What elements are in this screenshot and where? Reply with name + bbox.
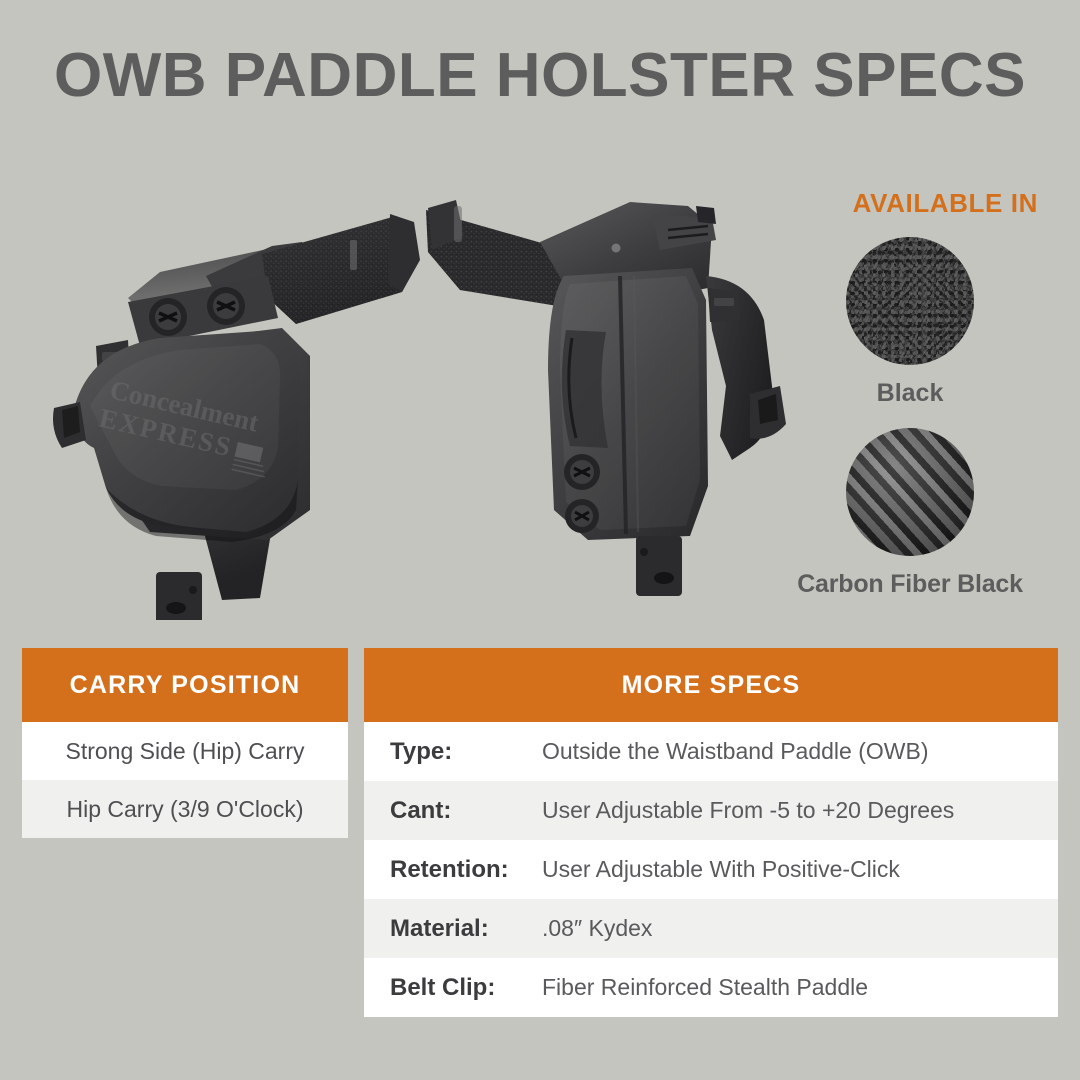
mount-screw-2	[207, 287, 245, 325]
spec-label: Retention:	[390, 856, 542, 884]
carbon-fiber-swatch[interactable]	[846, 428, 974, 556]
spec-value: User Adjustable From -5 to +20 Degrees	[542, 797, 954, 824]
product-image-stage: Concealment EXPRESS	[0, 180, 800, 630]
available-in-heading: AVAILABLE IN	[760, 188, 1060, 219]
table-row: Hip Carry (3/9 O'Clock)	[22, 780, 348, 838]
table-row: Cant: User Adjustable From -5 to +20 Deg…	[364, 781, 1058, 840]
carry-position-table: CARRY POSITION Strong Side (Hip) Carry H…	[22, 648, 348, 838]
more-specs-header: MORE SPECS	[364, 648, 1058, 722]
spec-value: Outside the Waistband Paddle (OWB)	[542, 738, 929, 765]
carry-position-header: CARRY POSITION	[22, 648, 348, 722]
carry-position-value: Hip Carry (3/9 O'Clock)	[67, 796, 304, 823]
color-option-black[interactable]: Black	[760, 237, 1060, 408]
spec-label: Belt Clip:	[390, 974, 542, 1002]
spec-value: User Adjustable With Positive-Click	[542, 856, 900, 883]
retention-screw-1	[564, 454, 600, 490]
table-row: Retention: User Adjustable With Positive…	[364, 840, 1058, 899]
mount-screw-1	[149, 298, 187, 336]
retention-screw-2	[565, 499, 599, 533]
spec-label: Material:	[390, 915, 542, 943]
table-row: Material: .08″ Kydex	[364, 899, 1058, 958]
color-option-carbon-fiber[interactable]: Carbon Fiber Black	[760, 428, 1060, 599]
spec-value: Fiber Reinforced Stealth Paddle	[542, 974, 868, 1001]
available-in-panel: AVAILABLE IN Black Carbon Fiber Black	[760, 188, 1060, 599]
table-row: Belt Clip: Fiber Reinforced Stealth Padd…	[364, 958, 1058, 1017]
black-textured-swatch[interactable]	[846, 237, 974, 365]
spec-label: Cant:	[390, 797, 542, 825]
more-specs-table: MORE SPECS Type: Outside the Waistband P…	[364, 648, 1058, 1017]
spec-value: .08″ Kydex	[542, 915, 652, 942]
table-row: Strong Side (Hip) Carry	[22, 722, 348, 780]
spec-label: Type:	[390, 738, 542, 766]
page-title: OWB PADDLE HOLSTER SPECS	[0, 44, 1080, 108]
table-row: Type: Outside the Waistband Paddle (OWB)	[364, 722, 1058, 781]
carry-position-value: Strong Side (Hip) Carry	[65, 738, 304, 765]
muzzle-tab	[636, 536, 682, 596]
holster-front-view: Concealment EXPRESS	[10, 180, 430, 625]
swatch-label-carbon-fiber: Carbon Fiber Black	[760, 570, 1060, 599]
swatch-label-black: Black	[760, 379, 1060, 408]
